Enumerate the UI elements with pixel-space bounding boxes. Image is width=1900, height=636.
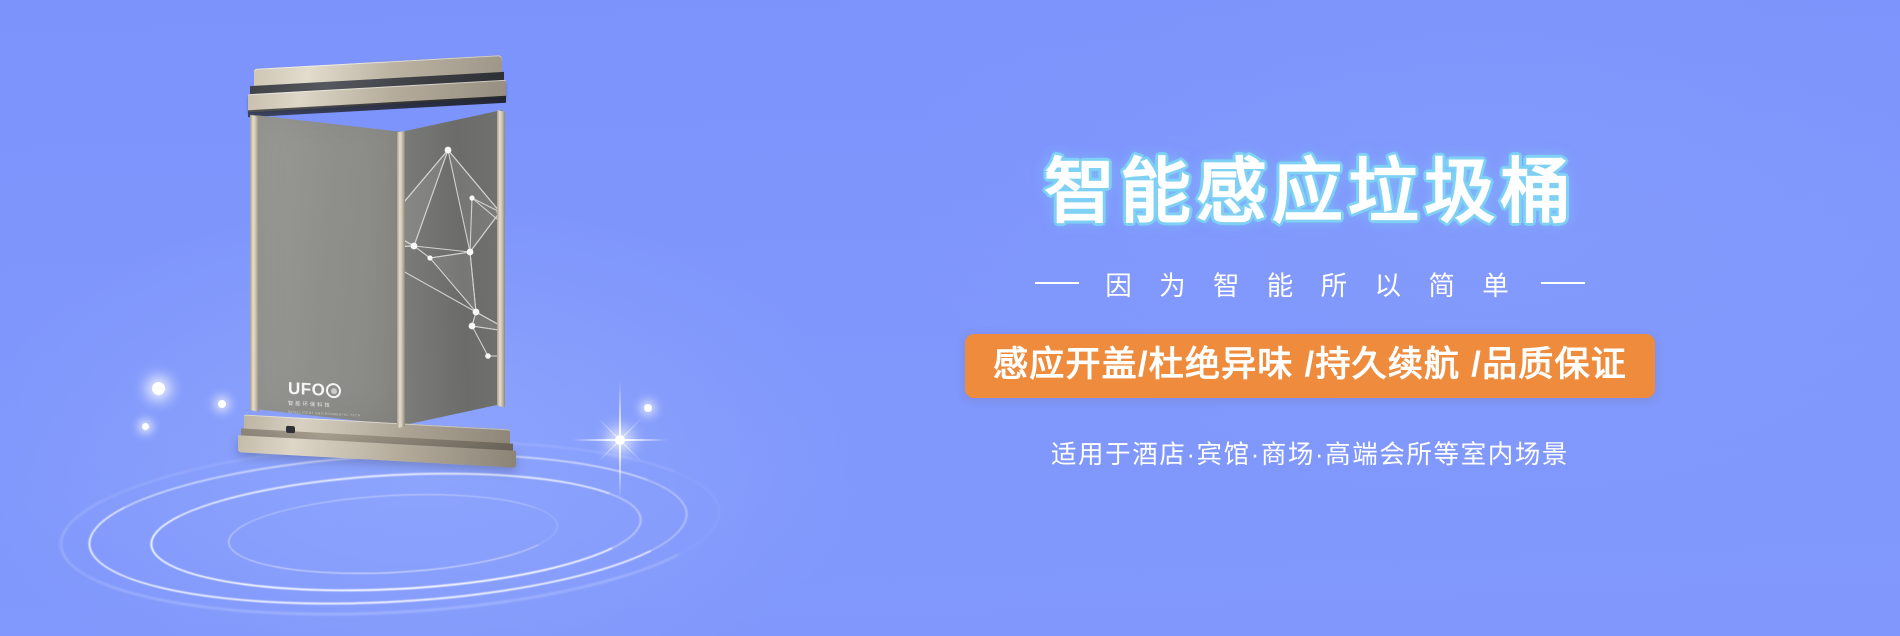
- use-scenario-text: 适用于酒店·宾馆·商场·高端会所等室内场景: [1051, 434, 1569, 471]
- bin-face-left: [252, 110, 404, 426]
- sparkle-icon-c: [218, 400, 226, 408]
- product-stage: UFO 智能环保科技 INTELLIGENT ENVIRONMENTAL TEC…: [0, 0, 760, 636]
- subline: 因 为 智 能 所 以 简 单: [1035, 264, 1585, 303]
- bin-corner-post-left: [250, 110, 259, 428]
- polygon-network-graphic: [400, 140, 502, 390]
- subline-text: 因 为 智 能 所 以 简 单: [1101, 264, 1519, 303]
- brand-logo-text: UFO: [288, 380, 325, 399]
- brand-logo-ring-icon: [326, 383, 341, 399]
- subline-dash-left: [1035, 282, 1079, 284]
- feature-highlight-bar: 感应开盖/杜绝异味 /持久续航 /品质保证: [965, 334, 1655, 398]
- product-image-trash-bin: UFO 智能环保科技 INTELLIGENT ENVIRONMENTAL TEC…: [248, 62, 508, 492]
- promo-banner: UFO 智能环保科技 INTELLIGENT ENVIRONMENTAL TEC…: [0, 0, 1900, 636]
- bin-base-sensor-slot: [286, 426, 295, 434]
- sparkle-icon-a: [152, 382, 165, 395]
- sparkle-icon-b: [142, 423, 149, 430]
- copy-block: 智能感应垃圾桶 因 为 智 能 所 以 简 单 感应开盖/杜绝异味 /持久续航 …: [720, 0, 1900, 636]
- bin-body: UFO 智能环保科技 INTELLIGENT ENVIRONMENTAL TEC…: [252, 110, 502, 430]
- brand-logo: UFO 智能环保科技 INTELLIGENT ENVIRONMENTAL TEC…: [288, 380, 374, 419]
- brand-logo-mark: UFO: [288, 380, 374, 402]
- brand-logo-cn: 智能环保科技: [288, 399, 374, 411]
- bin-corner-post-right: [497, 110, 505, 428]
- star-sparkle-icon: [560, 380, 680, 500]
- bin-face-right: [400, 110, 502, 426]
- bin-corner-post-center: [397, 110, 405, 428]
- subline-dash-right: [1541, 282, 1585, 284]
- headline-title: 智能感应垃圾桶: [1044, 157, 1576, 228]
